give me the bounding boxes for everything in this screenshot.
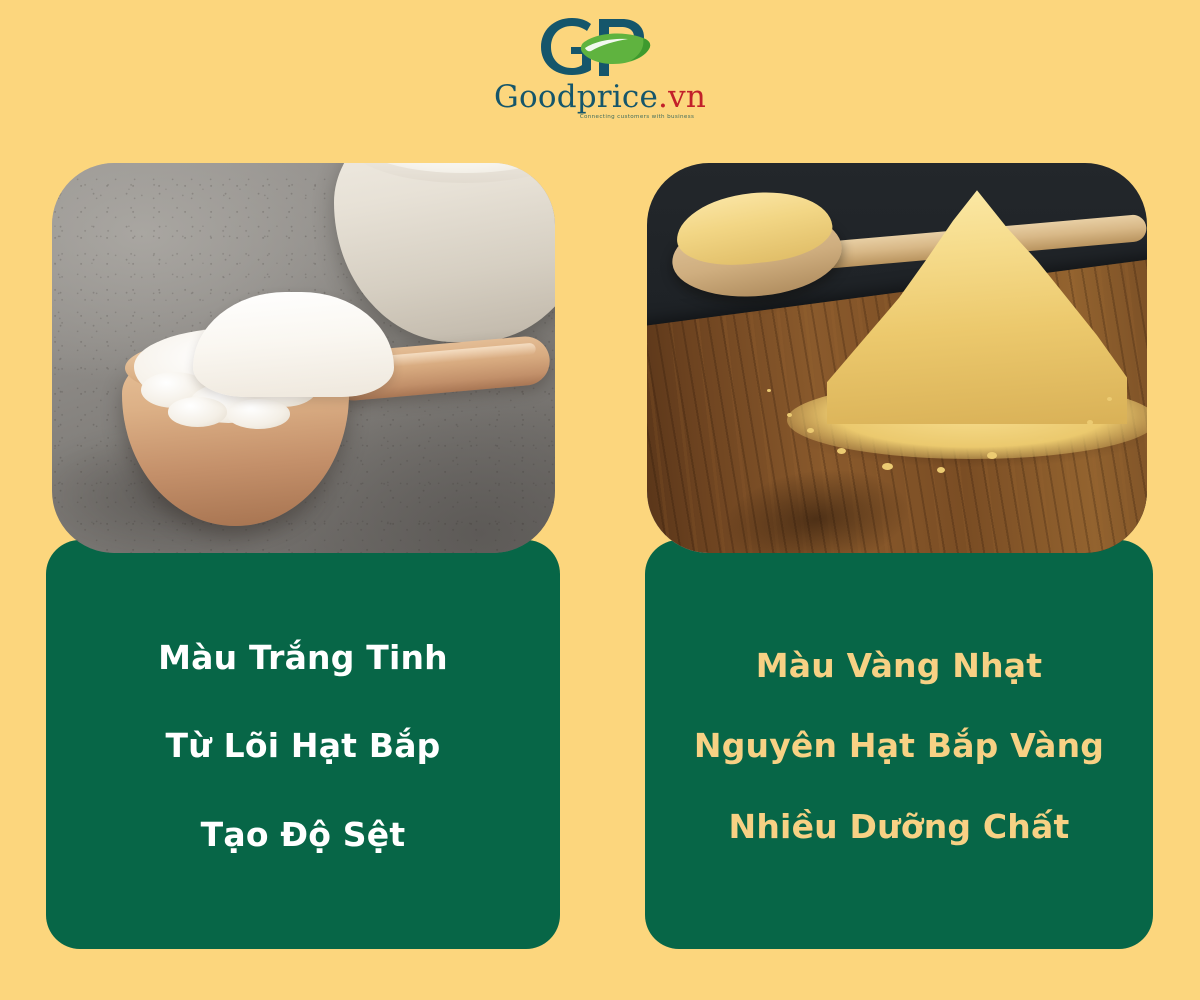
product-photo-white-corn-starch — [52, 163, 555, 553]
caption-line: Màu Vàng Nhạt — [659, 647, 1139, 685]
goodprice-gp-logo-icon — [525, 10, 675, 80]
brand-tld: .vn — [658, 79, 706, 115]
caption-line: Màu Trắng Tinh — [60, 639, 546, 677]
caption-line: Nguyên Hạt Bắp Vàng — [659, 727, 1139, 765]
brand-header: Goodprice.vn Connecting customers with b… — [0, 0, 1200, 150]
brand-name: Goodprice — [494, 79, 658, 115]
caption-line: Tạo Độ Sệt — [60, 816, 546, 854]
brand-tagline: Connecting customers with business — [580, 114, 695, 120]
caption-line: Từ Lõi Hạt Bắp — [60, 727, 546, 765]
caption-line: Nhiều Dưỡng Chất — [659, 808, 1139, 846]
caption-list-left: Màu Trắng Tinh Từ Lõi Hạt Bắp Tạo Độ Sệt — [46, 540, 560, 949]
product-photo-yellow-corn-flour — [647, 163, 1147, 553]
comparison-card-right: Màu Vàng Nhạt Nguyên Hạt Bắp Vàng Nhiều … — [645, 163, 1153, 949]
comparison-card-left: Màu Trắng Tinh Từ Lõi Hạt Bắp Tạo Độ Sệt — [46, 163, 560, 949]
brand-wordmark: Goodprice.vn — [494, 82, 706, 113]
caption-list-right: Màu Vàng Nhạt Nguyên Hạt Bắp Vàng Nhiều … — [645, 540, 1153, 949]
